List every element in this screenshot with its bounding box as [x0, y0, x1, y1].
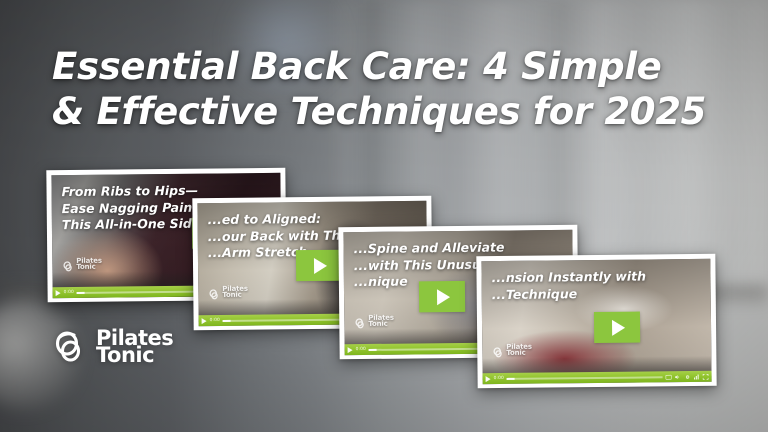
page-title-line1: Essential Back Care: 4 Simple [52, 45, 661, 88]
play-icon[interactable] [486, 376, 491, 382]
quality-icon[interactable] [693, 373, 699, 379]
play-icon[interactable] [56, 290, 61, 296]
watermark-logo: Pilates Tonic [63, 259, 102, 270]
time-display: 0:00 [494, 376, 504, 381]
play-icon[interactable] [202, 318, 207, 324]
brand-name: Pilates Tonic [96, 330, 173, 364]
watermark-line2: Tonic [222, 290, 241, 298]
brand-name-line2: Tonic [96, 343, 154, 367]
volume-icon[interactable] [675, 374, 681, 380]
video-title: ...nsion Instantly with ...Technique [491, 268, 704, 303]
play-triangle-icon [612, 319, 625, 335]
player-controls[interactable]: 0:00 [483, 371, 712, 384]
time-display: 0:00 [356, 347, 366, 352]
watermark-line2: Tonic [368, 319, 387, 327]
watermark-text: Pilates Tonic [506, 345, 532, 356]
page-title-line2: & Effective Techniques for 2025 [52, 89, 712, 134]
closed-caption-icon[interactable] [666, 374, 672, 380]
watermark-text: Pilates Tonic [368, 316, 394, 327]
watermark-logo: Pilates Tonic [493, 345, 532, 356]
interlocking-rings-icon [209, 287, 220, 298]
play-button[interactable] [594, 312, 640, 343]
promo-banner: Essential Back Care: 4 Simple & Effectiv… [0, 0, 768, 432]
interlocking-rings-icon [493, 345, 504, 356]
interlocking-rings-icon [355, 316, 366, 327]
watermark-line2: Tonic [76, 262, 95, 270]
play-triangle-icon [314, 257, 327, 273]
time-display: 0:00 [64, 290, 74, 295]
play-button[interactable] [419, 281, 465, 312]
watermark-text: Pilates Tonic [222, 287, 248, 298]
fullscreen-icon[interactable] [703, 373, 709, 379]
watermark-text: Pilates Tonic [76, 259, 102, 270]
brand-logo: Pilates Tonic [55, 330, 173, 364]
time-display: 0:00 [210, 318, 220, 323]
watermark-line2: Tonic [506, 348, 525, 356]
watermark-logo: Pilates Tonic [355, 316, 394, 327]
gear-icon[interactable] [684, 374, 690, 380]
interlocking-rings-icon [63, 259, 74, 270]
play-icon[interactable] [348, 347, 353, 353]
play-button[interactable] [296, 250, 342, 281]
watermark-logo: Pilates Tonic [209, 287, 248, 298]
video-card[interactable]: ...nsion Instantly with ...Technique Pil… [476, 254, 716, 388]
interlocking-rings-icon [55, 330, 89, 364]
play-triangle-icon [437, 289, 450, 305]
page-title: Essential Back Care: 4 Simple & Effectiv… [52, 44, 712, 134]
progress-bar[interactable] [507, 376, 663, 380]
